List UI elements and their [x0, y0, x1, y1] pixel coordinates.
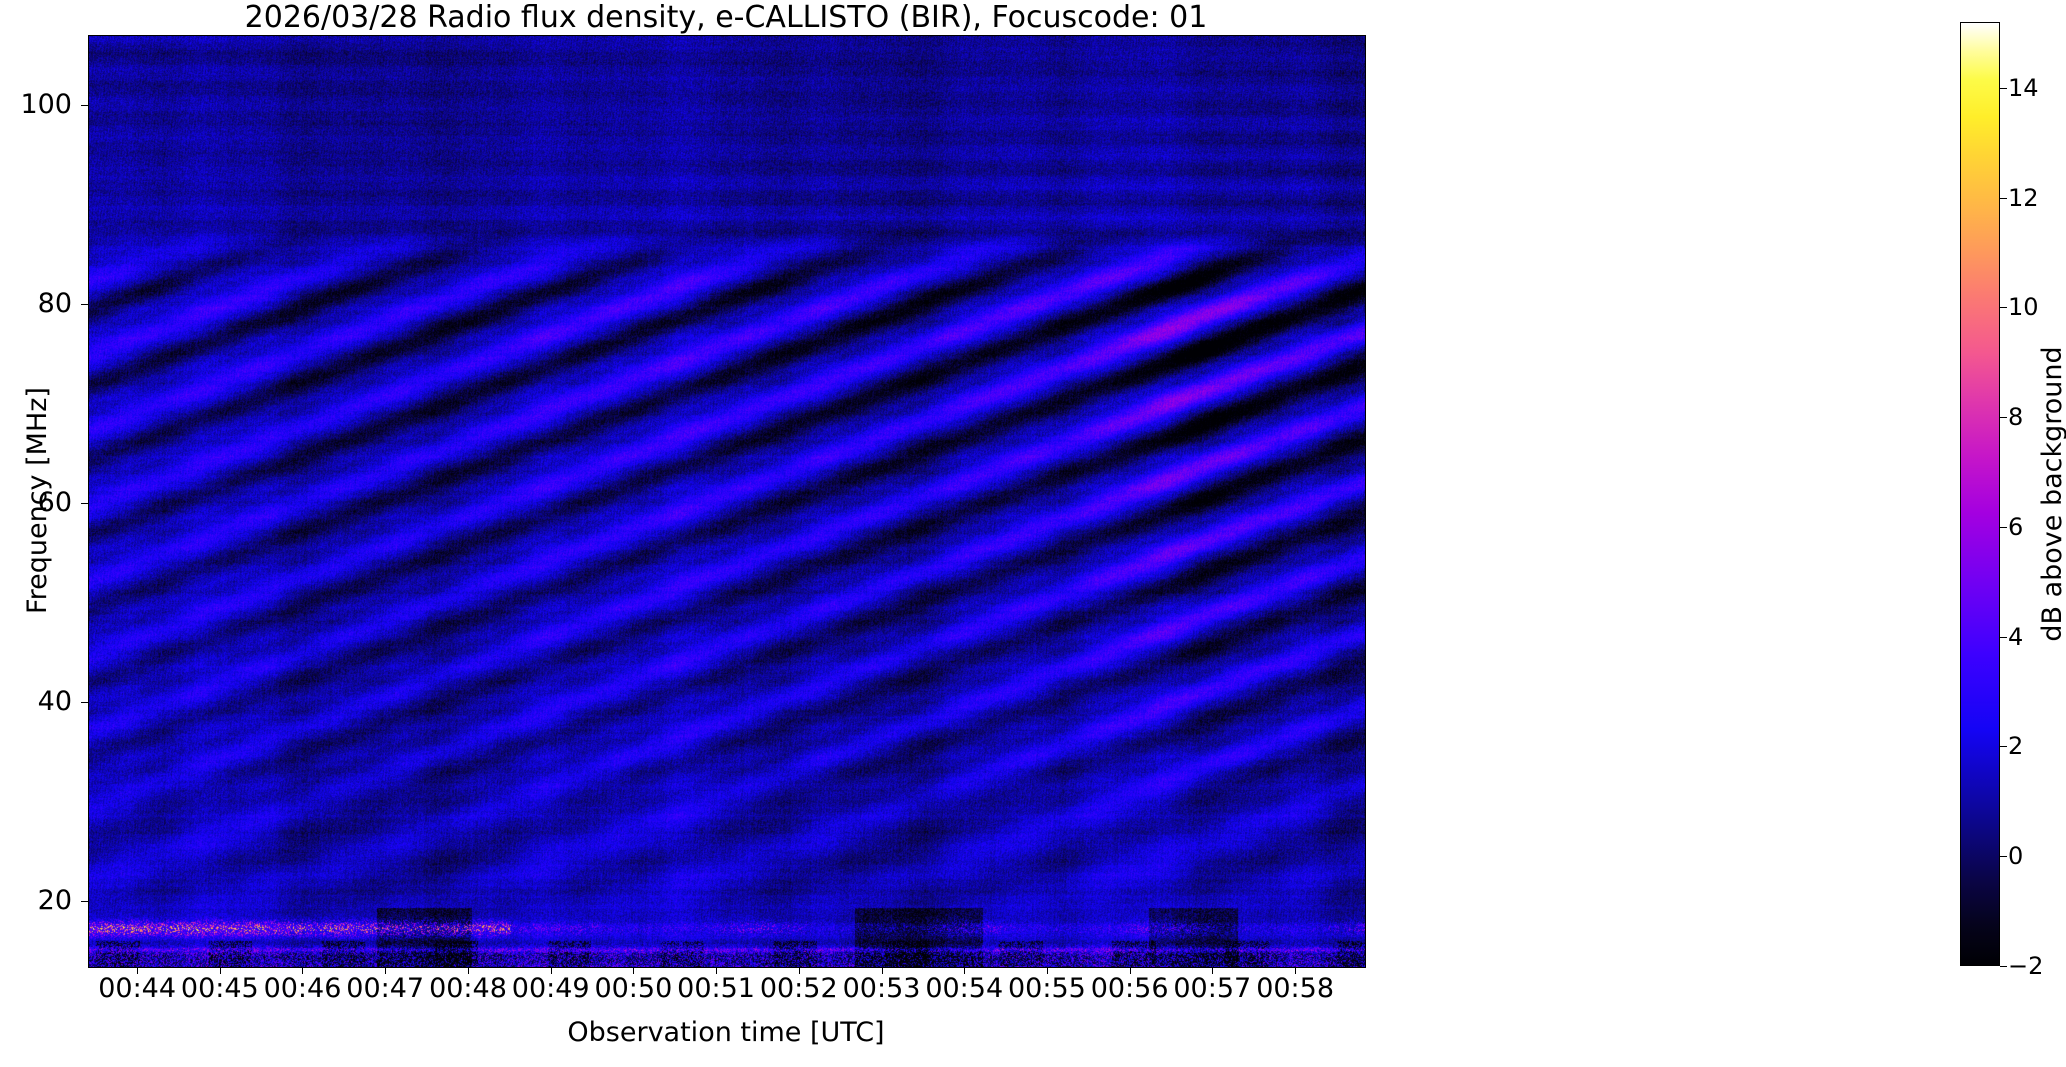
x-axis-tick-mark — [799, 967, 800, 974]
colorbar-gradient — [1960, 22, 2000, 966]
colorbar-tick-mark — [2000, 966, 2007, 967]
x-axis-tick-mark — [716, 967, 717, 974]
x-axis-label: Observation time [UTC] — [88, 1018, 1364, 1048]
colorbar-tick-label: 8 — [2008, 405, 2023, 429]
colorbar-tick-mark — [2000, 417, 2007, 418]
colorbar-tick-mark — [2000, 198, 2007, 199]
x-axis-tick-mark — [551, 967, 552, 974]
y-axis-tick-mark — [81, 503, 88, 504]
colorbar: −202468101214 — [1960, 22, 2000, 966]
colorbar-tick-mark — [2000, 307, 2007, 308]
spectrogram-image — [89, 36, 1365, 967]
colorbar-label: dB above background — [2036, 22, 2066, 966]
colorbar-tick-label: 12 — [2008, 186, 2039, 210]
x-axis-tick-mark — [1047, 967, 1048, 974]
page-title: 2026/03/28 Radio flux density, e-CALLIST… — [88, 2, 1364, 34]
x-axis-tick-mark — [302, 967, 303, 974]
colorbar-tick-label: 4 — [2008, 625, 2023, 649]
y-axis-tick-mark — [81, 702, 88, 703]
x-axis-tick-mark — [220, 967, 221, 974]
y-axis-tick-label: 100 — [0, 91, 72, 118]
colorbar-tick-label: 0 — [2008, 844, 2023, 868]
x-axis-tick-mark — [385, 967, 386, 974]
y-axis-tick-label: 60 — [0, 489, 72, 516]
x-axis-tick-mark — [137, 967, 138, 974]
colorbar-tick-label: 14 — [2008, 76, 2039, 100]
colorbar-tick-mark — [2000, 856, 2007, 857]
colorbar-tick-mark — [2000, 746, 2007, 747]
x-axis-tick-mark — [1130, 967, 1131, 974]
y-axis-tick-label: 40 — [0, 688, 72, 715]
colorbar-tick-label: 10 — [2008, 295, 2039, 319]
y-axis-tick-label: 80 — [0, 290, 72, 317]
colorbar-tick-mark — [2000, 637, 2007, 638]
x-axis-tick-label: 00:58 — [1225, 975, 1365, 1003]
colorbar-tick-label: 2 — [2008, 734, 2023, 758]
y-axis-tick-mark — [81, 901, 88, 902]
colorbar-tick-label: 6 — [2008, 515, 2023, 539]
x-axis-tick-mark — [964, 967, 965, 974]
spectrogram-figure: 2026/03/28 Radio flux density, e-CALLIST… — [0, 0, 2066, 1067]
x-axis-tick-mark — [633, 967, 634, 974]
y-axis-tick-label: 20 — [0, 887, 72, 914]
y-axis-tick-mark — [81, 304, 88, 305]
x-axis-tick-mark — [468, 967, 469, 974]
x-axis-tick-mark — [882, 967, 883, 974]
spectrogram-axes — [88, 35, 1366, 968]
x-axis-tick-mark — [1212, 967, 1213, 974]
y-axis-tick-mark — [81, 105, 88, 106]
colorbar-tick-mark — [2000, 88, 2007, 89]
colorbar-tick-mark — [2000, 527, 2007, 528]
x-axis-tick-mark — [1295, 967, 1296, 974]
